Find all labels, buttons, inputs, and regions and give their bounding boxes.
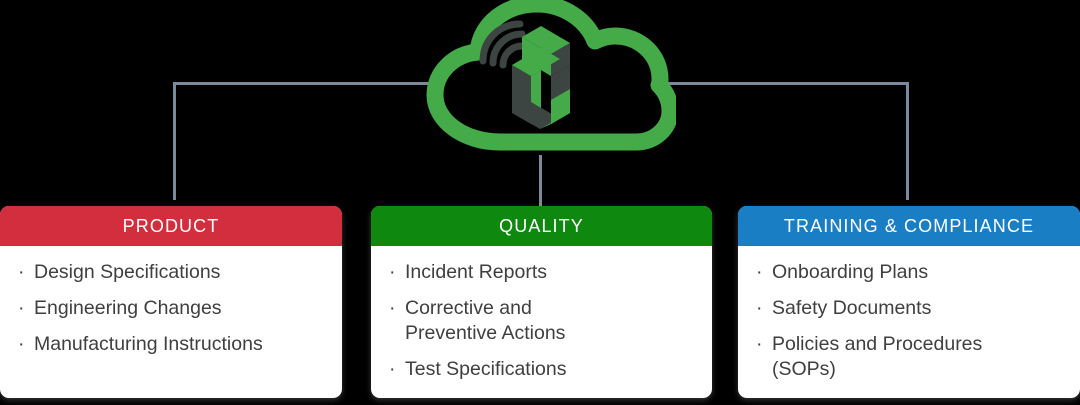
connector-line-quality-vertical xyxy=(539,155,542,207)
cloud-with-wifi-and-cube-icon xyxy=(404,0,676,160)
card-training-compliance-body: · Onboarding Plans · Safety Documents · … xyxy=(738,246,1080,398)
bullet-dot-icon: · xyxy=(18,260,25,285)
bullet-dot-icon: · xyxy=(756,332,763,357)
bullet-dot-icon: · xyxy=(389,260,396,285)
connector-line-product-vertical xyxy=(173,82,176,200)
list-item: · Incident Reports xyxy=(387,260,698,285)
list-item-label: Test Specifications xyxy=(405,358,567,380)
list-item: · Engineering Changes xyxy=(16,296,328,321)
list-item: · Policies and Procedures (SOPs) xyxy=(754,332,1066,382)
bullet-dot-icon: · xyxy=(18,332,25,357)
connector-line-training-vertical xyxy=(906,82,909,200)
list-item-label: Safety Documents xyxy=(772,297,931,319)
card-training-compliance-list: · Onboarding Plans · Safety Documents · … xyxy=(754,260,1066,382)
card-quality[interactable]: QUALITY · Incident Reports · Corrective … xyxy=(371,206,712,398)
list-item-label: Engineering Changes xyxy=(34,297,222,319)
card-product-body: · Design Specifications · Engineering Ch… xyxy=(0,246,342,398)
diagram-canvas: PRODUCT · Design Specifications · Engine… xyxy=(0,0,1080,405)
list-item: · Design Specifications xyxy=(16,260,328,285)
card-product-header: PRODUCT xyxy=(0,206,342,246)
list-item: · Safety Documents xyxy=(754,296,1066,321)
card-quality-header: QUALITY xyxy=(371,206,712,246)
list-item-label: Incident Reports xyxy=(405,261,547,283)
list-item-label: Onboarding Plans xyxy=(772,261,928,283)
card-training-compliance-header: TRAINING & COMPLIANCE xyxy=(738,206,1080,246)
list-item-label: Policies and Procedures (SOPs) xyxy=(772,333,982,380)
connector-line-product-horizontal xyxy=(173,82,431,85)
list-item: · Onboarding Plans xyxy=(754,260,1066,285)
bullet-dot-icon: · xyxy=(756,296,763,321)
list-item: · Manufacturing Instructions xyxy=(16,332,328,357)
bullet-dot-icon: · xyxy=(756,260,763,285)
connector-line-training-horizontal xyxy=(666,82,909,85)
list-item-label: Design Specifications xyxy=(34,261,220,283)
list-item-label: Corrective and Preventive Actions xyxy=(405,297,565,344)
list-item-label: Manufacturing Instructions xyxy=(34,333,263,355)
bullet-dot-icon: · xyxy=(389,357,396,382)
bullet-dot-icon: · xyxy=(18,296,25,321)
card-quality-body: · Incident Reports · Corrective and Prev… xyxy=(371,246,712,398)
card-training-compliance[interactable]: TRAINING & COMPLIANCE · Onboarding Plans… xyxy=(738,206,1080,398)
list-item: · Corrective and Preventive Actions xyxy=(387,296,698,346)
list-item: · Test Specifications xyxy=(387,357,698,382)
card-product[interactable]: PRODUCT · Design Specifications · Engine… xyxy=(0,206,342,398)
card-product-list: · Design Specifications · Engineering Ch… xyxy=(16,260,328,357)
bullet-dot-icon: · xyxy=(389,296,396,321)
card-quality-list: · Incident Reports · Corrective and Prev… xyxy=(387,260,698,382)
